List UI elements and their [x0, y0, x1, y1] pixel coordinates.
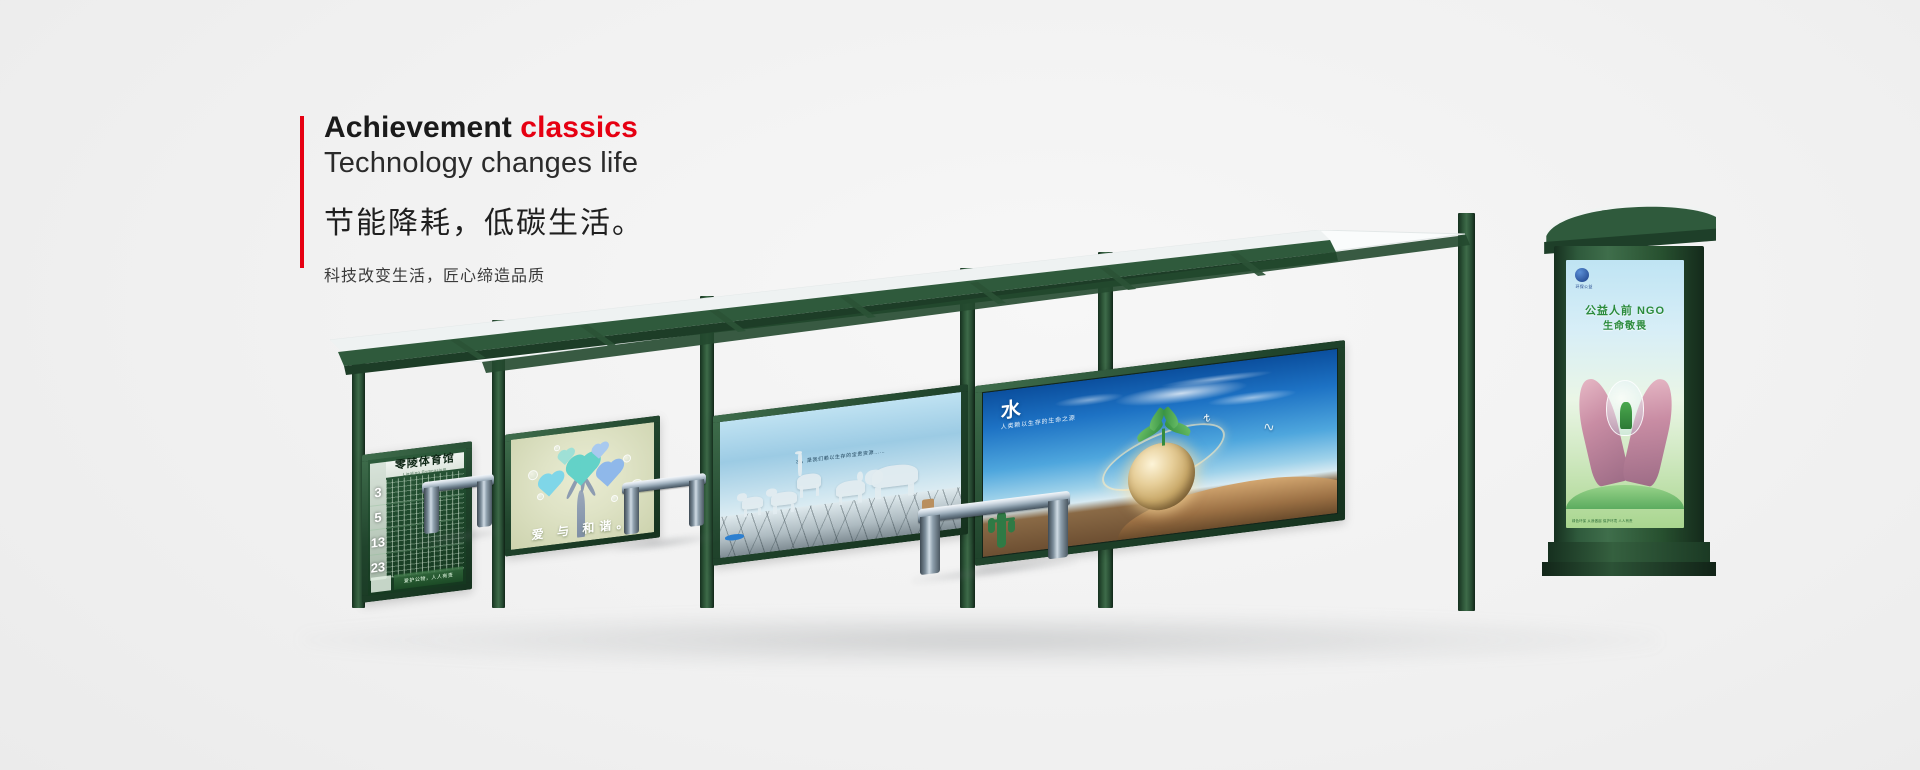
route-number: 13 [370, 534, 386, 551]
heart-shape-left [540, 475, 561, 497]
vertical-lightbox-tower: 环保公益 公益人前 NGO 生命敬畏 绿色环保 从我做起 保护环境 人人有责 [1548, 190, 1710, 590]
bench-shadow [616, 532, 712, 554]
bird-icon: ∿ [1262, 418, 1276, 435]
route-number: 23 [370, 558, 386, 575]
ngo-headline: 公益人前 NGO 生命敬畏 [1566, 303, 1684, 335]
bench-leg [624, 487, 639, 535]
bench-leg [920, 515, 940, 575]
ngo-artwork: 环保公益 公益人前 NGO 生命敬畏 绿色环保 从我做起 保护环境 人人有责 [1566, 260, 1684, 528]
support-post-2 [492, 320, 505, 608]
route-number: 3 [370, 484, 386, 501]
bench-2 [622, 473, 706, 547]
ngo-logo-name: 环保公益 [1575, 284, 1606, 290]
ngo-logo-mark [1575, 268, 1589, 282]
animal-camel [836, 479, 865, 498]
ngo-logo: 环保公益 [1575, 268, 1606, 290]
bus-shelter-assembly: 零陵体育馆 Lingling Gymnasium 3 5 [0, 0, 1920, 770]
animal-giraffe [797, 472, 821, 490]
ngo-footer-text: 绿色环保 从我做起 保护环境 人人有责 [1572, 519, 1678, 524]
bench-leg [424, 486, 439, 534]
ngo-hands-illustration [1583, 378, 1668, 485]
support-post-6 [1458, 213, 1475, 611]
ground-shadow [300, 612, 1660, 668]
tower-base [1548, 542, 1710, 564]
heart-shape-center [568, 456, 597, 485]
water-scarcity-caption: 水，是我们赖以生存的宝贵资源…… [720, 438, 961, 475]
timetable-footer-box [371, 576, 391, 593]
bench-leg [477, 480, 492, 528]
headline-english-primary: Achievement classics [324, 112, 644, 144]
heart-shape-right [597, 463, 620, 487]
tower-crown [1542, 190, 1716, 254]
animal-lion [771, 490, 798, 507]
ngo-headline-line2: 生命敬畏 [1566, 319, 1684, 334]
animal-elephant [872, 463, 918, 489]
red-accent-rule [300, 116, 304, 268]
bench-leg [1048, 499, 1068, 559]
headline-block: Achievement classics Technology changes … [300, 112, 644, 286]
support-post-3 [700, 296, 714, 608]
bubble-decoration [528, 470, 538, 481]
bench-1 [422, 474, 494, 541]
bubble-decoration [554, 445, 560, 451]
headline-chinese-large: 节能降耗，低碳生活。 [324, 198, 644, 242]
animal-antelope [742, 495, 764, 510]
ngo-screen[interactable]: 环保公益 公益人前 NGO 生命敬畏 绿色环保 从我做起 保护环境 人人有责 [1566, 260, 1684, 528]
ngo-green-band [1566, 485, 1684, 509]
headline-black-part: Achievement [324, 111, 520, 144]
bubble-decoration [623, 454, 632, 464]
bench-leg [689, 479, 704, 527]
headline-english-secondary: Technology changes life [324, 145, 644, 181]
sprout-plant [1139, 410, 1189, 449]
bubble-decoration [611, 495, 618, 503]
bubble-decoration [537, 493, 544, 501]
headline-red-part: classics [520, 111, 638, 144]
ngo-headline-line1: 公益人前 NGO [1566, 303, 1684, 320]
stem [1162, 429, 1165, 446]
sprig-plant [1620, 402, 1632, 430]
headline-chinese-small: 科技改变生活，匠心缔造品质 [324, 262, 644, 286]
product-banner-stage: Achievement classics Technology changes … [0, 0, 1920, 770]
tower-base-foot [1542, 562, 1716, 576]
route-number: 5 [370, 509, 386, 526]
